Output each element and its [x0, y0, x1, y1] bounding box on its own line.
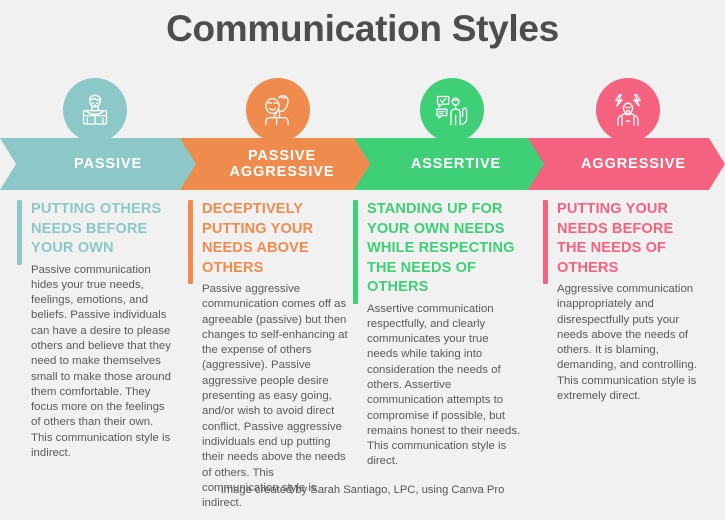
column-text-passive: Passive communication hides your true ne…: [31, 263, 177, 462]
style-description-row: PUTTING OTHERS NEEDS BEFORE YOUR OWN Pas…: [0, 200, 725, 490]
person-holding-mask-icon: [258, 90, 298, 130]
column-heading-aggressive: PUTTING YOUR NEEDS BEFORE THE NEEDS OF O…: [557, 200, 706, 278]
crossed-arms-person-icon: [75, 90, 115, 130]
angry-person-lightning-icon: [608, 90, 648, 130]
banner-label-aggressive: AGGRESSIVE: [581, 156, 686, 172]
banner-arrow-passive-aggressive[interactable]: PASSIVE AGGRESSIVE: [174, 138, 370, 190]
speech-bubble-raised-hand-icon: [432, 90, 472, 130]
column-assertive: STANDING UP FOR YOUR OWN NEEDS WHILE RES…: [353, 200, 521, 470]
accent-bar-aggressive: [543, 200, 548, 284]
accent-bar-assertive: [353, 200, 358, 304]
column-heading-passive-aggressive: DECEPTIVELY PUTTING YOUR NEEDS ABOVE OTH…: [202, 200, 351, 278]
banner-label-line-2: AGGRESSIVE: [230, 164, 335, 180]
icon-circle-aggressive: [596, 78, 660, 142]
banner-arrow-passive[interactable]: PASSIVE: [0, 138, 196, 190]
column-body-passive: PUTTING OTHERS NEEDS BEFORE YOUR OWN Pas…: [31, 200, 177, 461]
column-aggressive: PUTTING YOUR NEEDS BEFORE THE NEEDS OF O…: [543, 200, 706, 404]
column-body-aggressive: PUTTING YOUR NEEDS BEFORE THE NEEDS OF O…: [557, 200, 706, 404]
column-text-passive-aggressive: Passive aggressive communication comes o…: [202, 282, 351, 511]
style-banner-row: PASSIVE PASSIVE AGGRESSIVE ASSERTIVE AGG…: [0, 138, 725, 190]
banner-label-line-1: PASSIVE: [248, 148, 316, 164]
accent-bar-passive-aggressive: [188, 200, 193, 284]
banner-arrow-aggressive[interactable]: AGGRESSIVE: [522, 138, 725, 190]
column-body-passive-aggressive: DECEPTIVELY PUTTING YOUR NEEDS ABOVE OTH…: [202, 200, 351, 511]
page-title: Communication Styles: [0, 8, 725, 50]
banner-label-passive: PASSIVE: [74, 156, 142, 172]
column-body-assertive: STANDING UP FOR YOUR OWN NEEDS WHILE RES…: [367, 200, 521, 470]
icon-circle-assertive: [420, 78, 484, 142]
infographic-page: Communication Styles: [0, 0, 725, 520]
image-credit: Image created by Sarah Santiago, LPC, us…: [0, 484, 725, 496]
icon-circle-passive: [63, 78, 127, 142]
banner-label-passive-aggressive: PASSIVE AGGRESSIVE: [230, 148, 335, 180]
column-text-aggressive: Aggressive communication inappropriately…: [557, 282, 706, 404]
accent-bar-passive: [17, 200, 22, 265]
banner-label-assertive: ASSERTIVE: [411, 156, 501, 172]
column-heading-passive: PUTTING OTHERS NEEDS BEFORE YOUR OWN: [31, 200, 177, 259]
banner-arrow-assertive[interactable]: ASSERTIVE: [348, 138, 544, 190]
icon-circle-passive-aggressive: [246, 78, 310, 142]
column-passive: PUTTING OTHERS NEEDS BEFORE YOUR OWN Pas…: [17, 200, 177, 461]
column-text-assertive: Assertive communication respectfully, an…: [367, 302, 521, 470]
column-heading-assertive: STANDING UP FOR YOUR OWN NEEDS WHILE RES…: [367, 200, 521, 298]
column-passive-aggressive: DECEPTIVELY PUTTING YOUR NEEDS ABOVE OTH…: [188, 200, 351, 511]
